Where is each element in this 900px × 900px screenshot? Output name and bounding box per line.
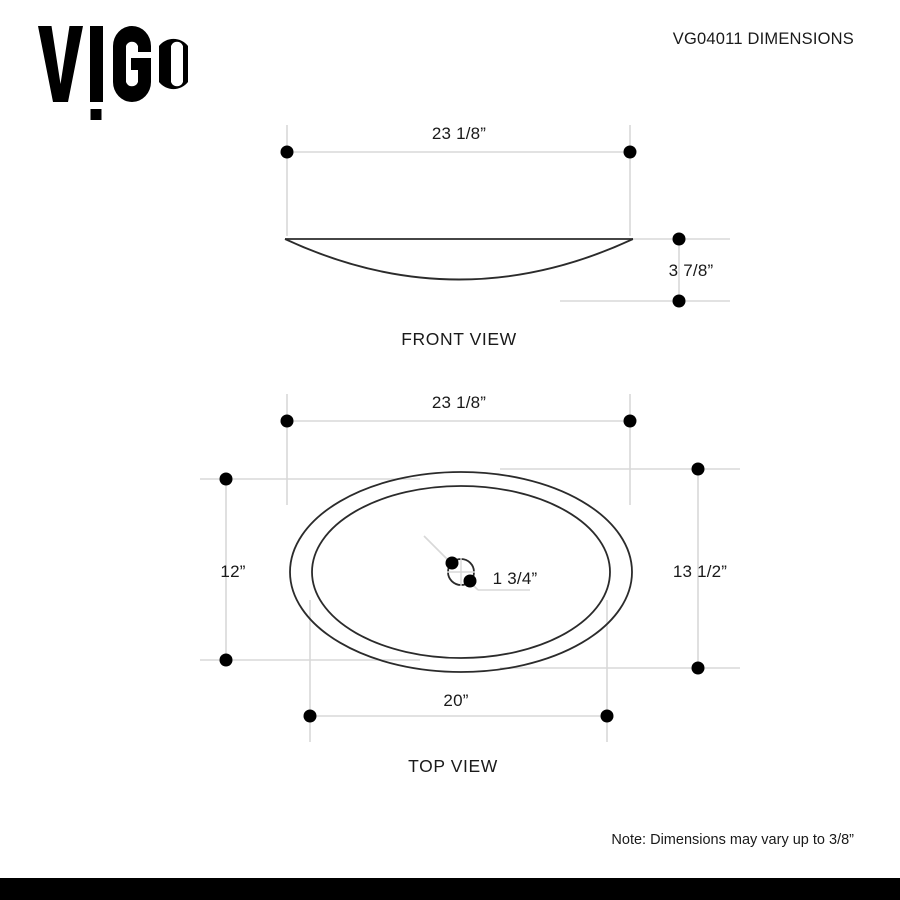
front-height-endpoint-bottom: [673, 295, 686, 308]
dimension-drawing-page: VG04011 DIMENSIONS: [0, 0, 900, 900]
front-height-label: 3 7/8”: [669, 261, 714, 281]
overall-depth-endpoint-top: [692, 463, 705, 476]
front-width-label: 23 1/8”: [432, 124, 486, 144]
inner-width-label: 20”: [443, 691, 468, 711]
drain-diameter-label: 1 3/4”: [493, 569, 538, 589]
inner-width-endpoint-right: [601, 710, 614, 723]
inner-width-endpoint-left: [304, 710, 317, 723]
top-width-endpoint-right: [624, 415, 637, 428]
top-view-label: TOP VIEW: [408, 756, 498, 777]
overall-depth-endpoint-bottom: [692, 662, 705, 675]
bottom-bar: [0, 878, 900, 900]
overall-depth-label: 13 1/2”: [673, 562, 727, 582]
front-view-label: FRONT VIEW: [401, 329, 517, 350]
footer-note: Note: Dimensions may vary up to 3/8”: [611, 832, 854, 848]
inner-depth-endpoint-top: [220, 473, 233, 486]
front-view-group: [281, 125, 731, 308]
top-width-label: 23 1/8”: [432, 393, 486, 413]
front-width-endpoint-left: [281, 146, 294, 159]
front-width-endpoint-right: [624, 146, 637, 159]
top-view-group: [200, 394, 740, 742]
drain-endpoint-lower-right: [464, 575, 477, 588]
top-width-endpoint-left: [281, 415, 294, 428]
front-bowl-profile: [285, 239, 633, 280]
drain-endpoint-upper-left: [446, 557, 459, 570]
inner-depth-endpoint-bottom: [220, 654, 233, 667]
front-height-endpoint-top: [673, 233, 686, 246]
inner-depth-label: 12”: [220, 562, 245, 582]
